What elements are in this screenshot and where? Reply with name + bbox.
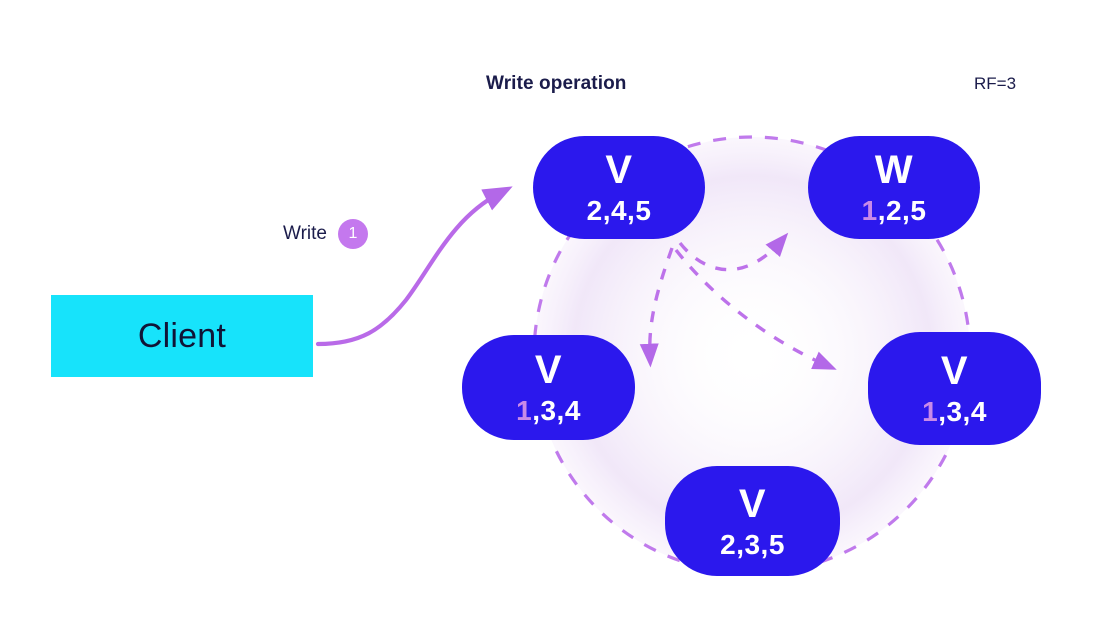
write-step-label: Write 1	[283, 219, 368, 249]
node-values: 1,3,4	[922, 398, 987, 426]
client-box[interactable]: Client	[51, 295, 313, 377]
node-bottom[interactable]: V 2,3,5	[665, 466, 840, 576]
diagram-canvas: Write operation RF=3 Client Write 1 V 2,…	[0, 0, 1100, 637]
node-letter: V	[739, 484, 766, 524]
node-values: 1,3,4	[516, 397, 581, 425]
arrow-client-to-coordinator	[318, 193, 500, 344]
step-badge-1: 1	[338, 219, 368, 249]
write-step-text: Write	[283, 223, 327, 245]
node-value-rest: ,3,4	[938, 396, 987, 427]
node-value-first: 2	[720, 529, 736, 560]
page-title: Write operation	[486, 73, 627, 95]
node-values: 2,3,5	[720, 531, 785, 559]
node-values: 1,2,5	[862, 197, 927, 225]
node-value-first: 1	[516, 395, 532, 426]
node-letter: V	[605, 150, 632, 190]
node-letter: V	[941, 351, 968, 391]
node-right[interactable]: V 1,3,4	[868, 332, 1041, 445]
arrow-replicate-to-right	[676, 250, 828, 366]
node-value-rest: ,3,4	[532, 395, 581, 426]
node-value-first: 1	[862, 195, 878, 226]
node-value-first: 1	[922, 396, 938, 427]
node-value-rest: ,3,5	[736, 529, 785, 560]
node-left[interactable]: V 1,3,4	[462, 335, 635, 440]
arrow-replicate-to-left	[650, 248, 672, 358]
node-value-rest: ,4,5	[603, 195, 652, 226]
node-top-right[interactable]: W 1,2,5	[808, 136, 980, 239]
replication-factor-label: RF=3	[974, 74, 1016, 94]
node-letter: V	[535, 350, 562, 390]
node-letter: W	[875, 150, 913, 190]
node-value-first: 2	[587, 195, 603, 226]
arrow-replicate-to-top-right	[680, 240, 782, 270]
node-values: 2,4,5	[587, 197, 652, 225]
client-label: Client	[138, 317, 226, 356]
node-top-left[interactable]: V 2,4,5	[533, 136, 705, 239]
node-value-rest: ,2,5	[878, 195, 927, 226]
